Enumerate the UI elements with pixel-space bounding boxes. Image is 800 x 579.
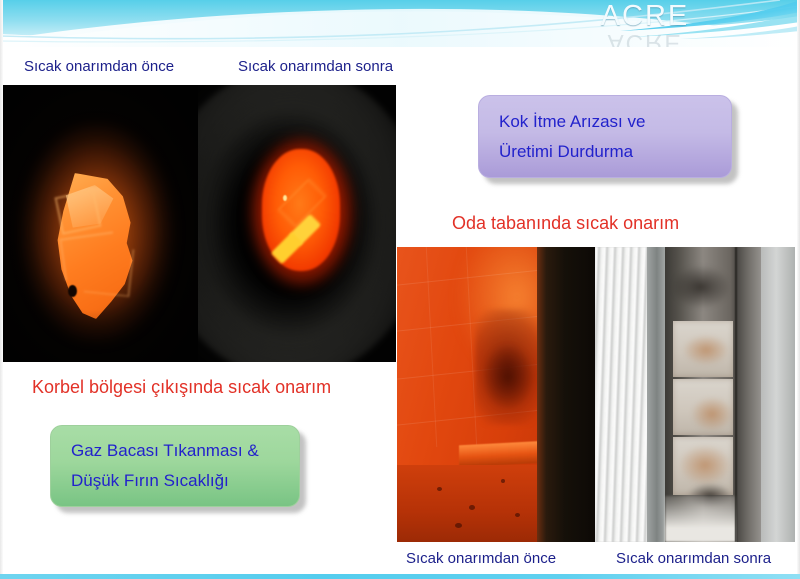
rust-stain: [691, 397, 733, 431]
callout-gaz-bacasi-line1: Gaz Bacası Tıkanması &: [71, 436, 279, 466]
wall-post-right: [737, 247, 763, 542]
callout-gaz-bacasi-line2: Düşük Fırın Sıcaklığı: [71, 466, 279, 496]
slide-border-left: [0, 0, 3, 579]
callout-gaz-bacasi[interactable]: Gaz Bacası Tıkanması & Düşük Fırın Sıcak…: [50, 425, 300, 507]
oven-wall-right-dark: [537, 247, 595, 542]
photo-hot-repair-after: [198, 85, 396, 362]
caption-top-before: Sıcak onarımdan önce: [24, 58, 174, 75]
slide-header-banner: ACRE ACRE: [0, 0, 800, 47]
caption-korbel: Korbel bölgesi çıkışında sıcak onarım: [32, 377, 331, 398]
wall-crack: [735, 247, 737, 542]
photo-oven-chamber-orange: [397, 247, 595, 542]
floor-speck: [515, 513, 520, 517]
chamber-floor: [397, 465, 543, 542]
brand-title-reflection: ACRE: [575, 30, 715, 47]
callout-kok-itme[interactable]: Kok İtme Arızası ve Üretimi Durdurma: [478, 95, 732, 178]
wall-texture-stripes: [595, 247, 653, 542]
slide: ACRE ACRE Sıcak onarımdan önce Sıcak ona…: [0, 0, 800, 579]
photo-vignette: [0, 85, 198, 362]
caption-bottom-after: Sıcak onarımdan sonra: [616, 550, 771, 567]
caption-oda-tabaninda: Oda tabanında sıcak onarım: [452, 213, 679, 234]
soot-stain: [671, 265, 731, 309]
floor-speck: [455, 523, 462, 528]
carbon-deposit-core: [481, 343, 535, 411]
caption-top-after: Sıcak onarımdan sonra: [238, 58, 393, 75]
slide-border-bottom: [0, 574, 800, 579]
callout-kok-itme-line1: Kok İtme Arızası ve: [499, 107, 711, 137]
rust-stain: [679, 445, 731, 485]
wall-bottom-light: [665, 496, 741, 542]
photo-hot-repair-before: [0, 85, 198, 362]
floor-speck: [469, 505, 475, 510]
rust-stain: [683, 335, 729, 365]
caption-bottom-before: Sıcak onarımdan önce: [406, 550, 556, 567]
wall-panel-right: [761, 247, 795, 542]
floor-speck: [501, 479, 505, 483]
chamber-floor-ledge: [459, 441, 547, 468]
photo-vignette: [198, 85, 396, 362]
floor-speck: [437, 487, 442, 491]
photo-oven-brick-wall: [595, 247, 795, 542]
callout-kok-itme-line2: Üretimi Durdurma: [499, 137, 711, 167]
